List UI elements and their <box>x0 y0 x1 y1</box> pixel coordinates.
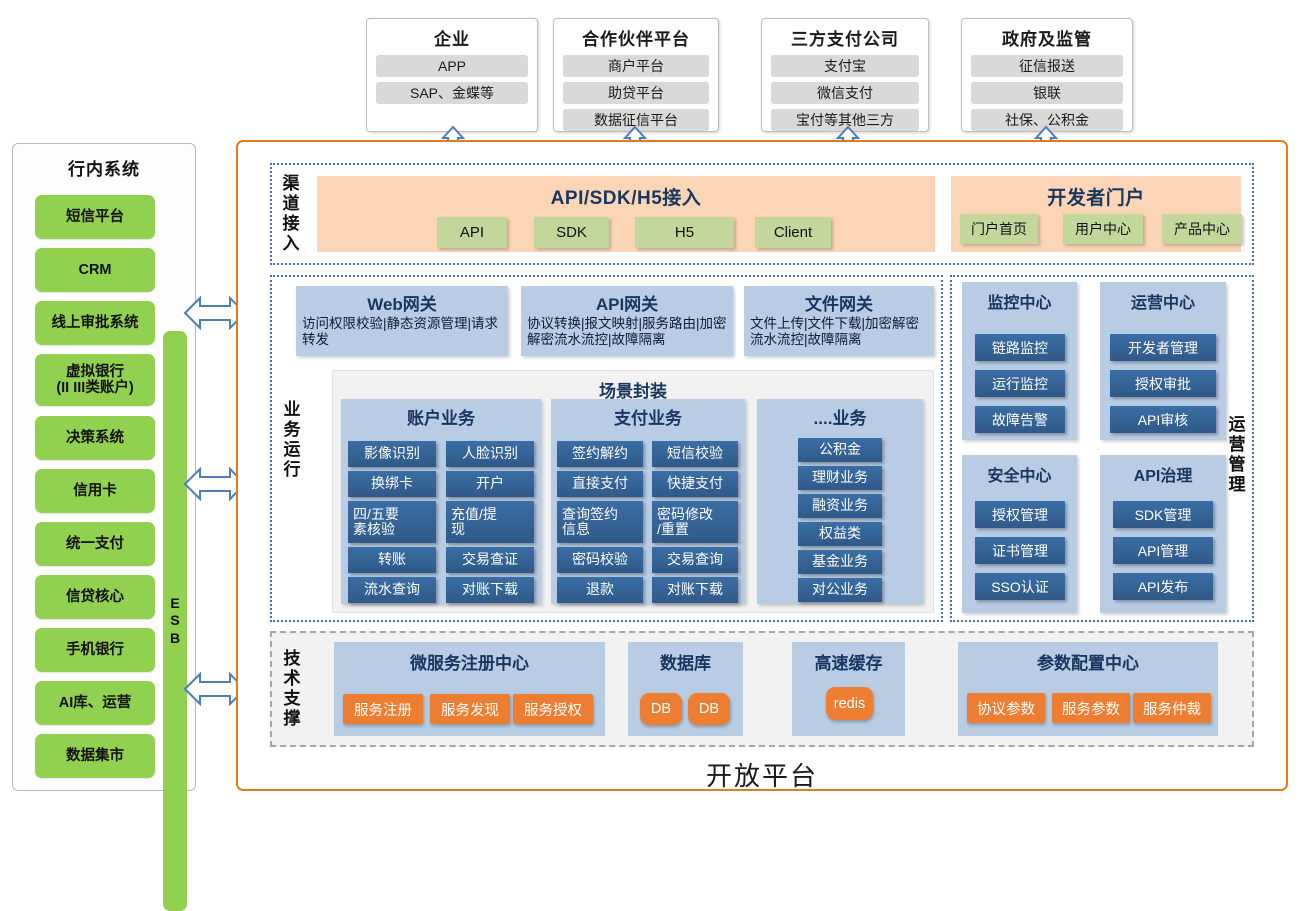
biz-chip-refund[interactable]: 退款 <box>557 577 643 603</box>
scene-encapsulation-title: 场景封装 <box>333 371 933 402</box>
biz-chip-label: 快捷支付 <box>667 476 723 491</box>
external-system-title: 企业 <box>376 25 528 50</box>
ops-chip-sso-authentication[interactable]: SSO认证 <box>975 573 1065 600</box>
inbank-systems-panel: 行内系统 短信平台 CRM 线上审批系统 虚拟银行 (II III类账户) 决策… <box>12 143 196 791</box>
ops-chip-label: 故障告警 <box>992 410 1048 430</box>
biz-chip-label: 密码校验 <box>572 552 628 567</box>
inbank-item-label: CRM <box>78 262 111 278</box>
tech-chip-label: redis <box>834 696 865 712</box>
tech-chip-label: 服务发现 <box>441 699 499 720</box>
ops-card-title: API治理 <box>1100 455 1226 486</box>
inbank-item-online-approval[interactable]: 线上审批系统 <box>35 301 155 345</box>
gateway-desc: 协议转换|报文映射|服务路由|加密解密流水流控|故障隔离 <box>527 316 727 349</box>
biz-group-title: ....业务 <box>757 399 923 429</box>
ops-chip-authorization-management[interactable]: 授权管理 <box>975 501 1065 528</box>
tech-chip-service-arbitration[interactable]: 服务仲裁 <box>1133 693 1211 723</box>
biz-chip-label: 查询签约 信息 <box>562 507 618 538</box>
portal-chip-label: 用户中心 <box>1075 219 1131 239</box>
biz-chip-label: 流水查询 <box>364 582 420 597</box>
biz-chip-rebind-card[interactable]: 换绑卡 <box>348 471 436 497</box>
biz-chip-label: 对账下载 <box>462 582 518 597</box>
portal-chip-user-center[interactable]: 用户中心 <box>1063 214 1143 244</box>
biz-chip-financing[interactable]: 融资业务 <box>798 494 882 518</box>
biz-chip-transaction-query[interactable]: 交易查询 <box>652 547 738 573</box>
inbank-item-label: 手机银行 <box>66 642 124 658</box>
biz-chip-fund-business[interactable]: 基金业务 <box>798 550 882 574</box>
external-system-item[interactable]: 银联 <box>971 82 1123 104</box>
channel-chip-api[interactable]: API <box>437 217 507 248</box>
channel-chip-client[interactable]: Client <box>755 217 831 248</box>
api-sdk-h5-access-panel: API/SDK/H5接入 <box>317 176 935 252</box>
tech-chip-service-discovery[interactable]: 服务发现 <box>430 694 510 724</box>
biz-chip-label: 对账下载 <box>667 582 723 597</box>
ops-chip-label: SDK管理 <box>1135 505 1192 525</box>
inbank-item-data-mart[interactable]: 数据集市 <box>35 734 155 778</box>
ops-chip-label: API发布 <box>1138 577 1189 597</box>
biz-chip-rights-interests[interactable]: 权益类 <box>798 522 882 546</box>
inbank-systems-title: 行内系统 <box>13 155 195 180</box>
inbank-item-ai-operations[interactable]: AI库、运营 <box>35 681 155 725</box>
biz-chip-sign-unsign[interactable]: 签约解约 <box>557 441 643 467</box>
biz-chip-wealth-management[interactable]: 理财业务 <box>798 466 882 490</box>
inbank-item-crm[interactable]: CRM <box>35 248 155 292</box>
ops-chip-label: API审核 <box>1138 410 1189 430</box>
inbank-item-virtual-bank[interactable]: 虚拟银行 (II III类账户) <box>35 354 155 406</box>
ops-card-title: 监控中心 <box>962 282 1077 313</box>
biz-chip-query-sign-info[interactable]: 查询签约 信息 <box>557 501 643 543</box>
inbank-item-label: 短信平台 <box>66 209 124 225</box>
gateway-desc: 文件上传|文件下载|加密解密流水流控|故障隔离 <box>750 316 928 349</box>
tech-card-title: 参数配置中心 <box>958 642 1218 674</box>
ops-chip-link-monitoring[interactable]: 链路监控 <box>975 334 1065 361</box>
biz-chip-label: 融资业务 <box>812 498 868 513</box>
biz-chip-password-change-reset[interactable]: 密码修改 /重置 <box>652 501 738 543</box>
biz-chip-label: 短信校验 <box>667 446 723 461</box>
tech-chip-service-register[interactable]: 服务注册 <box>343 694 423 724</box>
biz-chip-label: 权益类 <box>819 526 861 541</box>
tech-card-title: 数据库 <box>628 642 743 674</box>
biz-chip-four-five-element-verify[interactable]: 四/五要 素核验 <box>348 501 436 543</box>
channel-chip-label: SDK <box>556 224 587 241</box>
inbank-item-unified-payment[interactable]: 统一支付 <box>35 522 155 566</box>
open-platform-label: 开放平台 <box>236 756 1288 793</box>
tech-chip-label: DB <box>651 701 671 717</box>
ops-chip-certificate-management[interactable]: 证书管理 <box>975 537 1065 564</box>
tech-chip-service-authorization[interactable]: 服务授权 <box>513 694 593 724</box>
ops-chip-developer-management[interactable]: 开发者管理 <box>1110 334 1216 361</box>
biz-chip-label: 理财业务 <box>812 470 868 485</box>
ops-chip-sdk-management[interactable]: SDK管理 <box>1113 501 1213 528</box>
external-system-item[interactable]: 助贷平台 <box>563 82 709 104</box>
ops-chip-label: API管理 <box>1138 541 1189 561</box>
tech-chip-label: 协议参数 <box>977 698 1035 719</box>
biz-chip-reconciliation-download[interactable]: 对账下载 <box>446 577 534 603</box>
external-system-item[interactable]: 微信支付 <box>771 82 919 104</box>
biz-chip-label: 开户 <box>476 476 504 491</box>
ops-chip-label: 证书管理 <box>992 541 1048 561</box>
tech-chip-label: DB <box>699 701 719 717</box>
inbank-item-label: 信贷核心 <box>66 589 124 605</box>
channel-chip-h5[interactable]: H5 <box>635 217 734 248</box>
biz-chip-image-recognition[interactable]: 影像识别 <box>348 441 436 467</box>
tech-chip-service-parameter[interactable]: 服务参数 <box>1052 693 1130 723</box>
channel-chip-label: Client <box>774 224 812 241</box>
ops-chip-label: 授权审批 <box>1135 374 1191 394</box>
channel-access-side-label: 渠道接入 <box>276 168 302 260</box>
tech-card-title: 微服务注册中心 <box>334 642 605 674</box>
external-system-item[interactable]: SAP、金蝶等 <box>376 82 528 104</box>
external-system-item[interactable]: 商户平台 <box>563 55 709 77</box>
biz-chip-label: 密码修改 /重置 <box>657 507 713 538</box>
ops-chip-fault-alarm[interactable]: 故障告警 <box>975 406 1065 433</box>
inbank-item-label: 统一支付 <box>66 536 124 552</box>
business-run-side-label: 业务运行 <box>277 380 303 500</box>
esb-label-e: E <box>170 595 179 613</box>
inbank-item-credit-card[interactable]: 信用卡 <box>35 469 155 513</box>
inbank-item-sms-platform[interactable]: 短信平台 <box>35 195 155 239</box>
biz-chip-label: 对公业务 <box>812 582 868 597</box>
biz-group-title: 账户业务 <box>341 399 541 429</box>
biz-chip-label: 影像识别 <box>364 446 420 461</box>
biz-chip-recharge-withdraw[interactable]: 充值/提 现 <box>446 501 534 543</box>
external-system-title: 三方支付公司 <box>771 25 919 50</box>
inbank-item-label: AI库、运营 <box>59 695 132 711</box>
biz-chip-transfer[interactable]: 转账 <box>348 547 436 573</box>
external-system-title: 合作伙伴平台 <box>563 25 709 50</box>
channel-chip-label: H5 <box>675 224 694 241</box>
ops-chip-label: 链路监控 <box>992 338 1048 358</box>
biz-group-title: 支付业务 <box>551 399 745 429</box>
tech-card-title: 高速缓存 <box>792 642 905 674</box>
biz-chip-label: 转账 <box>378 552 406 567</box>
tech-chip-label: 服务仲裁 <box>1143 698 1201 719</box>
ops-chip-label: 开发者管理 <box>1128 338 1198 358</box>
portal-chip-product-center[interactable]: 产品中心 <box>1162 214 1242 244</box>
esb-label-b: B <box>170 630 180 648</box>
ops-chip-api-review[interactable]: API审核 <box>1110 406 1216 433</box>
ops-chip-label: SSO认证 <box>991 577 1049 597</box>
tech-chip-db-2[interactable]: DB <box>688 693 730 725</box>
portal-chip-label: 产品中心 <box>1174 219 1230 239</box>
tech-chip-protocol-parameter[interactable]: 协议参数 <box>967 693 1045 723</box>
inbank-item-decision-system[interactable]: 决策系统 <box>35 416 155 460</box>
ops-chip-api-publish[interactable]: API发布 <box>1113 573 1213 600</box>
biz-chip-label: 签约解约 <box>572 446 628 461</box>
api-sdk-h5-access-title: API/SDK/H5接入 <box>317 176 935 210</box>
biz-chip-direct-payment[interactable]: 直接支付 <box>557 471 643 497</box>
biz-chip-label: 公积金 <box>819 442 861 457</box>
channel-chip-label: API <box>460 224 484 241</box>
inbank-item-label: 信用卡 <box>73 483 117 499</box>
biz-chip-label: 直接支付 <box>572 476 628 491</box>
biz-chip-housing-fund[interactable]: 公积金 <box>798 438 882 462</box>
biz-chip-transaction-flow-query[interactable]: 流水查询 <box>348 577 436 603</box>
gateway-desc: 访问权限校验|静态资源管理|请求转发 <box>302 316 502 349</box>
portal-chip-label: 门户首页 <box>971 219 1027 239</box>
tech-chip-db-1[interactable]: DB <box>640 693 682 725</box>
gateway-card-file[interactable]: 文件网关 文件上传|文件下载|加密解密流水流控|故障隔离 <box>744 286 934 356</box>
biz-chip-label: 充值/提 现 <box>451 507 497 538</box>
biz-chip-open-account[interactable]: 开户 <box>446 471 534 497</box>
ops-chip-label: 授权管理 <box>992 505 1048 525</box>
gateway-title: API网关 <box>527 290 727 315</box>
gateway-title: 文件网关 <box>750 290 928 315</box>
biz-chip-sms-verify[interactable]: 短信校验 <box>652 441 738 467</box>
biz-chip-face-recognition[interactable]: 人脸识别 <box>446 441 534 467</box>
biz-chip-password-verify[interactable]: 密码校验 <box>557 547 643 573</box>
biz-chip-label: 换绑卡 <box>371 476 413 491</box>
gateway-card-api[interactable]: API网关 协议转换|报文映射|服务路由|加密解密流水流控|故障隔离 <box>521 286 733 356</box>
biz-chip-label: 交易查证 <box>462 552 518 567</box>
esb-bus: E S B <box>163 331 187 911</box>
gateway-title: Web网关 <box>302 290 502 315</box>
inbank-item-label: 决策系统 <box>66 430 124 446</box>
tech-chip-label: 服务参数 <box>1062 698 1120 719</box>
biz-chip-label: 退款 <box>586 582 614 597</box>
external-system-item[interactable]: 征信报送 <box>971 55 1123 77</box>
tech-chip-label: 服务授权 <box>524 699 582 720</box>
ops-chip-api-management[interactable]: API管理 <box>1113 537 1213 564</box>
biz-chip-label: 四/五要 素核验 <box>353 507 399 538</box>
ops-card-title: 安全中心 <box>962 455 1077 486</box>
esb-label-s: S <box>170 612 179 630</box>
inbank-item-mobile-banking[interactable]: 手机银行 <box>35 628 155 672</box>
external-system-enterprise[interactable]: 企业 APP SAP、金蝶等 <box>366 18 538 132</box>
inbank-item-label: 虚拟银行 (II III类账户) <box>56 364 133 396</box>
inbank-item-label: 线上审批系统 <box>52 315 139 331</box>
tech-support-side-label: 技术支撑 <box>277 640 303 738</box>
external-system-third-party-payment[interactable]: 三方支付公司 支付宝 微信支付 宝付等其他三方 <box>761 18 929 132</box>
inbank-item-credit-core[interactable]: 信贷核心 <box>35 575 155 619</box>
developer-portal-title: 开发者门户 <box>951 176 1241 210</box>
biz-chip-reconciliation-download-2[interactable]: 对账下载 <box>652 577 738 603</box>
ops-chip-runtime-monitoring[interactable]: 运行监控 <box>975 370 1065 397</box>
biz-chip-label: 交易查询 <box>667 552 723 567</box>
biz-chip-quick-payment[interactable]: 快捷支付 <box>652 471 738 497</box>
biz-chip-label: 人脸识别 <box>462 446 518 461</box>
ops-chip-authorization-approval[interactable]: 授权审批 <box>1110 370 1216 397</box>
external-system-item[interactable]: APP <box>376 55 528 77</box>
channel-chip-sdk[interactable]: SDK <box>534 217 609 248</box>
external-system-title: 政府及监管 <box>971 25 1123 50</box>
tech-chip-redis[interactable]: redis <box>826 687 873 720</box>
ops-card-title: 运营中心 <box>1100 282 1226 313</box>
biz-chip-corporate-business[interactable]: 对公业务 <box>798 578 882 602</box>
biz-chip-transaction-verification[interactable]: 交易查证 <box>446 547 534 573</box>
external-system-item[interactable]: 支付宝 <box>771 55 919 77</box>
tech-chip-label: 服务注册 <box>354 699 412 720</box>
inbank-item-label: 数据集市 <box>66 748 124 764</box>
biz-chip-label: 基金业务 <box>812 554 868 569</box>
portal-chip-home[interactable]: 门户首页 <box>960 214 1038 244</box>
external-system-government-regulator[interactable]: 政府及监管 征信报送 银联 社保、公积金 <box>961 18 1133 132</box>
external-system-partner-platform[interactable]: 合作伙伴平台 商户平台 助贷平台 数据征信平台 <box>553 18 719 132</box>
gateway-card-web[interactable]: Web网关 访问权限校验|静态资源管理|请求转发 <box>296 286 508 356</box>
ops-chip-label: 运行监控 <box>992 374 1048 394</box>
